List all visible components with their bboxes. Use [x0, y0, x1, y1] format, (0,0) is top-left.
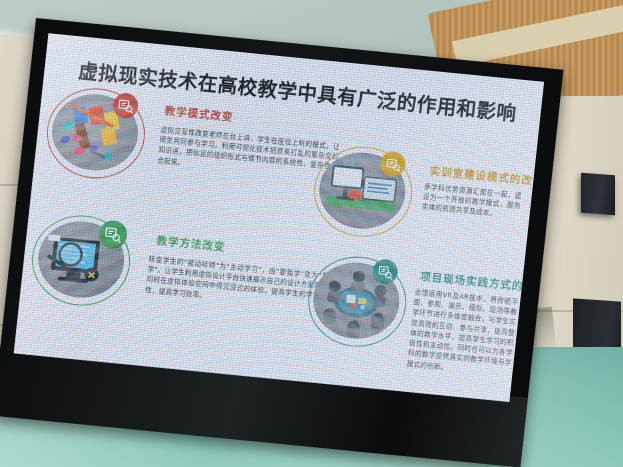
led-video-wall[interactable]: 虚拟现实技术在高校教学中具有广泛的作用和影响: [0, 18, 563, 467]
led-panel[interactable]: 虚拟现实技术在高校教学中具有广泛的作用和影响: [14, 33, 544, 402]
photograph-scene: 虚拟现实技术在高校教学中具有广泛的作用和影响: [0, 0, 623, 467]
content-block-project-practice: 项目现场实践方式的改变 合理运用VR及AR技术，将传统平面、参观、演示、模拟、现…: [305, 253, 525, 393]
block-body: 虚拟交互性改变老师在台上讲、学生在座位上听的模式，让师生共同参与学习。利用可视化…: [157, 125, 341, 183]
presentation-slide: 虚拟现实技术在高校教学中具有广泛的作用和影响: [14, 33, 544, 402]
content-block-teaching-method: 教学方法改变 转变学生的"被动听师"为"主动学习"，由"要我学"变为"我要学"。…: [31, 212, 351, 352]
wall-speaker: [581, 173, 615, 215]
block-body: 合理运用VR及AR技术，将传统平面、参观、演示、模拟、现场等教学环节进行多维度融…: [406, 287, 518, 378]
block-body: 多学科优势资源汇聚在一起，建设为一个开放的教学模式，服务实体的资源共享及成本。: [421, 182, 522, 222]
block-heading: 教学方法改变: [156, 233, 226, 255]
block-heading: 教学模式改变: [164, 103, 234, 125]
